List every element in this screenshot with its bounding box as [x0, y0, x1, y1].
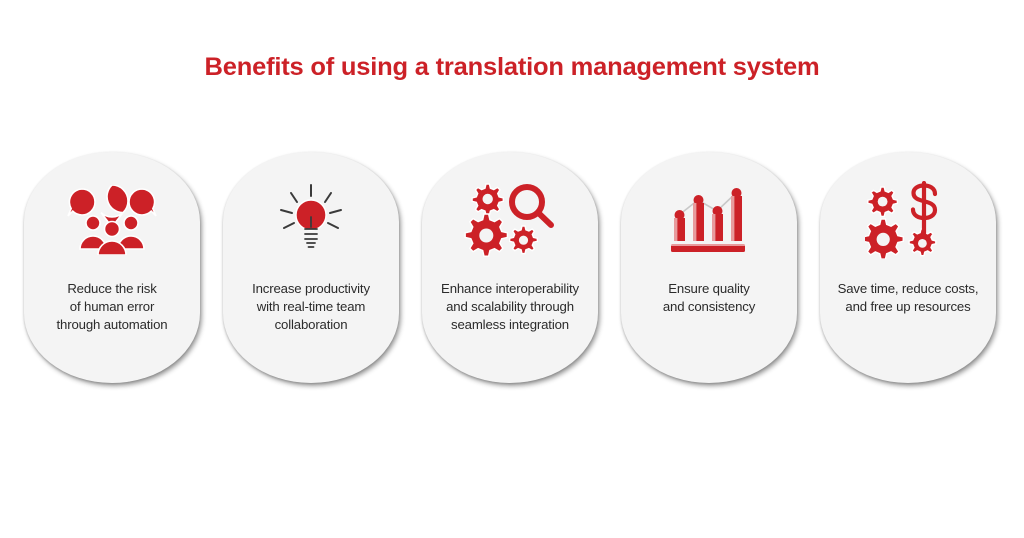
people-speech-bubbles-icon [62, 182, 162, 258]
benefit-card-line: Ensure quality [623, 280, 795, 298]
infographic-canvas: Benefits of using a translation manageme… [0, 0, 1024, 538]
benefit-card-line: and consistency [623, 298, 795, 316]
benefit-card[interactable]: Ensure quality and consistency [621, 152, 797, 383]
benefit-card-line: of human error [26, 298, 198, 316]
benefit-card-line: with real-time team [225, 298, 397, 316]
benefit-card[interactable]: Enhance interoperability and scalability… [422, 152, 598, 383]
benefit-card-line: and scalability through [424, 298, 596, 316]
page-title: Benefits of using a translation manageme… [0, 52, 1024, 82]
benefit-card-line: seamless integration [424, 316, 596, 334]
benefit-card-line: Enhance interoperability [424, 280, 596, 298]
benefit-card-text: Save time, reduce costs, and free up res… [822, 280, 994, 316]
bar-chart-trend-icon [659, 182, 759, 258]
benefit-card-text: Increase productivity with real-time tea… [225, 280, 397, 334]
benefit-card-text: Reduce the risk of human error through a… [26, 280, 198, 334]
lightbulb-icon [261, 182, 361, 258]
benefit-card-line: Reduce the risk [26, 280, 198, 298]
benefit-card[interactable]: Increase productivity with real-time tea… [223, 152, 399, 383]
benefit-cards-row: Reduce the risk of human error through a… [24, 152, 1000, 384]
benefit-card-line: Increase productivity [225, 280, 397, 298]
benefit-card[interactable]: Reduce the risk of human error through a… [24, 152, 200, 383]
gears-magnifier-icon [460, 182, 560, 258]
benefit-card-line: collaboration [225, 316, 397, 334]
benefit-card-line: Save time, reduce costs, [822, 280, 994, 298]
benefit-card[interactable]: Save time, reduce costs, and free up res… [820, 152, 996, 383]
benefit-card-text: Enhance interoperability and scalability… [424, 280, 596, 334]
gears-dollar-icon [858, 182, 958, 258]
benefit-card-line: and free up resources [822, 298, 994, 316]
benefit-card-line: through automation [26, 316, 198, 334]
benefit-card-text: Ensure quality and consistency [623, 280, 795, 316]
